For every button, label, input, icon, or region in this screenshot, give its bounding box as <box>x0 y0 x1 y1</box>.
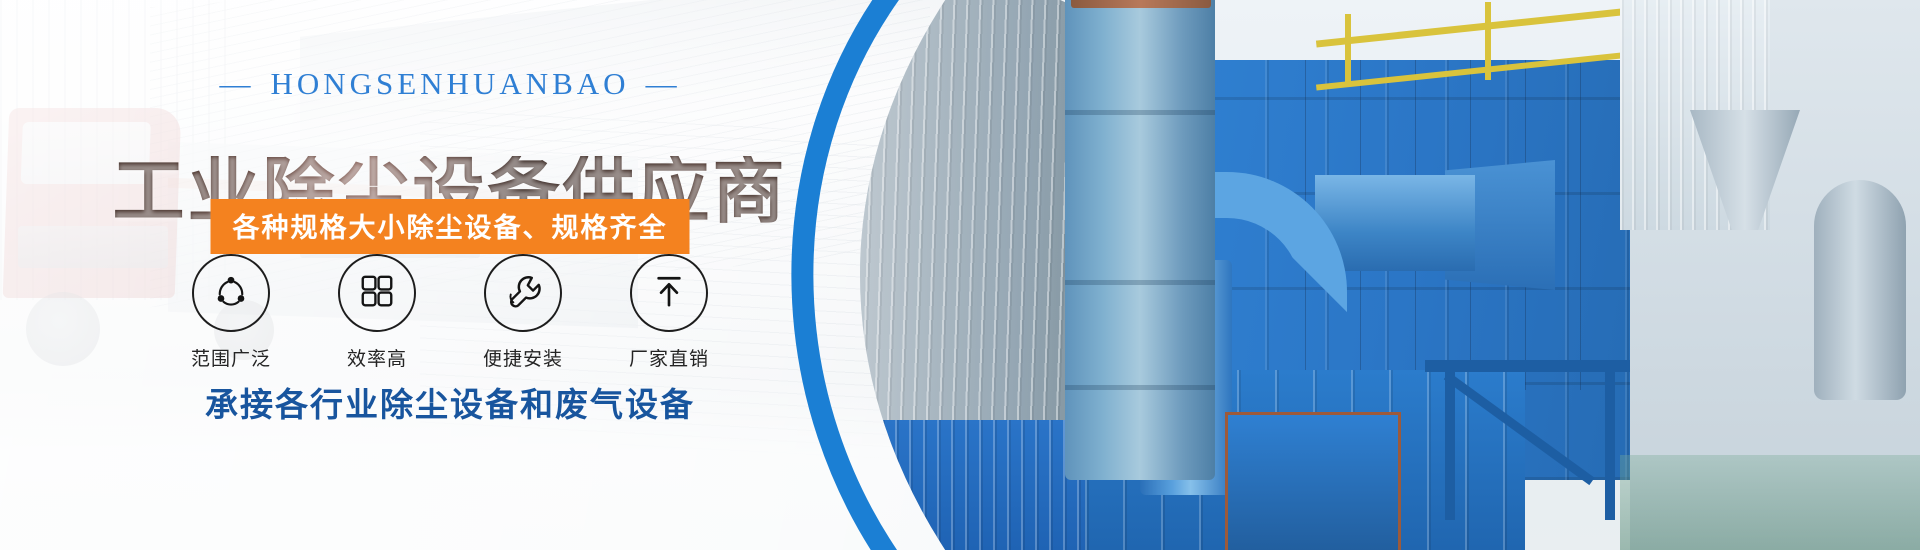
exhaust-stack-decor <box>1065 0 1215 480</box>
far-right-structures-decor <box>1630 0 1920 550</box>
feature-item-efficiency[interactable]: 效率高 <box>325 254 429 371</box>
feature-icon-circle <box>338 254 416 332</box>
eyebrow-dash-left: — <box>219 66 254 102</box>
hero-banner: —HONGSENHUANBAO— 工业除尘设备供应商 各种规格大小除尘设备、规格… <box>0 0 1920 550</box>
feature-icon-circle <box>192 254 270 332</box>
feature-item-installation[interactable]: 便捷安装 <box>471 254 575 371</box>
feature-icon-circle <box>630 254 708 332</box>
access-door-decor <box>1225 412 1401 550</box>
feature-item-factory-direct[interactable]: 厂家直销 <box>617 254 721 371</box>
subtitle-orange-bar: 各种规格大小除尘设备、规格齐全 <box>211 199 690 254</box>
far-foliage-decor <box>1620 455 1920 550</box>
banner-content: —HONGSENHUANBAO— 工业除尘设备供应商 各种规格大小除尘设备、规格… <box>0 0 900 550</box>
feature-list: 范围广泛 效率高 <box>0 254 900 371</box>
feature-label: 范围广泛 <box>179 344 283 371</box>
far-tank-decor <box>1814 180 1906 400</box>
industrial-equipment-photo <box>785 0 1920 550</box>
share-nodes-icon <box>211 271 251 316</box>
feature-icon-circle <box>484 254 562 332</box>
eyebrow-dash-right: — <box>646 66 681 102</box>
wrench-icon <box>502 270 544 317</box>
feature-item-scope[interactable]: 范围广泛 <box>179 254 283 371</box>
arrow-up-bar-icon <box>649 271 689 316</box>
tagline-text: 承接各行业除尘设备和废气设备 <box>0 378 900 426</box>
stack-top-band-decor <box>1071 0 1211 8</box>
grid-squares-icon <box>358 272 396 315</box>
feature-label: 效率高 <box>325 344 429 371</box>
eyebrow-brand-latin: —HONGSENHUANBAO— <box>0 66 900 102</box>
eyebrow-text: HONGSENHUANBAO <box>270 66 629 101</box>
feature-label: 便捷安装 <box>471 344 575 371</box>
feature-label: 厂家直销 <box>617 344 721 371</box>
